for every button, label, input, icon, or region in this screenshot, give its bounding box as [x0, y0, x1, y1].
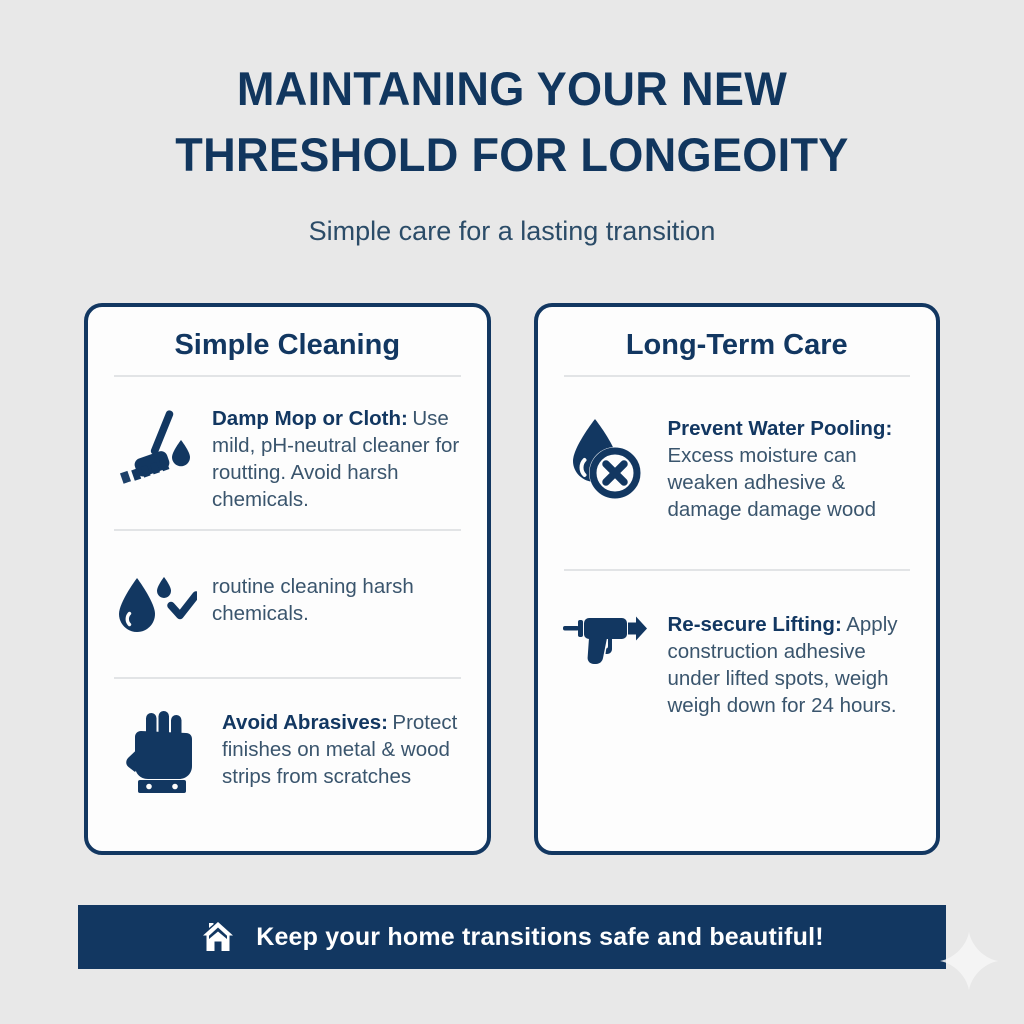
header: MAINTANING YOUR NEW THRESHOLD FOR LONGEO…	[0, 0, 1024, 248]
card-simple-cleaning: Simple Cleaning	[84, 303, 491, 855]
card-items: Prevent Water Pooling: Excess moisture c…	[562, 377, 913, 837]
cards-container: Simple Cleaning	[84, 303, 940, 855]
list-item-text: routine cleaning harsh chemicals.	[212, 571, 463, 627]
list-item-text: Avoid Abrasives: Protect finishes on met…	[222, 707, 463, 790]
card-long-term-care: Long-Term Care	[534, 303, 941, 855]
card-title: Simple Cleaning	[112, 325, 463, 375]
page-title-line-1: MAINTANING YOUR NEW	[20, 56, 1003, 122]
card-items: Damp Mop or Cloth: Use mild, pH-neutral …	[112, 377, 463, 837]
card-spacer	[562, 735, 913, 837]
list-item-heading: Avoid Abrasives:	[222, 711, 388, 734]
list-item-re-secure-lifting: Re-secure Lifting: Apply construction ad…	[562, 571, 913, 735]
list-item-body: routine cleaning harsh chemicals.	[212, 575, 414, 625]
list-item-heading: Re-secure Lifting:	[668, 613, 842, 636]
card-title: Long-Term Care	[562, 325, 913, 375]
list-item-damp-mop: Damp Mop or Cloth: Use mild, pH-neutral …	[112, 377, 463, 529]
page-subtitle: Simple care for a lasting transition	[0, 214, 1024, 248]
list-item-text: Re-secure Lifting: Apply construction ad…	[662, 609, 913, 719]
card-spacer	[112, 809, 463, 837]
footer-text: Keep your home transitions safe and beau…	[256, 921, 824, 953]
footer-banner: Keep your home transitions safe and beau…	[78, 905, 946, 969]
list-item-avoid-abrasives: Avoid Abrasives: Protect finishes on met…	[112, 679, 463, 809]
list-item-body: Excess moisture can weaken adhesive & da…	[668, 444, 877, 521]
list-item-routine-cleaning: routine cleaning harsh chemicals.	[112, 531, 463, 677]
list-item-heading: Damp Mop or Cloth:	[212, 407, 408, 430]
page-title: MAINTANING YOUR NEW THRESHOLD FOR LONGEO…	[20, 56, 1003, 188]
mop-with-droplet-icon	[112, 403, 198, 485]
droplet-check-icon	[112, 571, 198, 635]
sparkle-icon	[938, 930, 1000, 992]
hand-stop-icon	[112, 707, 208, 793]
list-item-text: Damp Mop or Cloth: Use mild, pH-neutral …	[212, 403, 463, 513]
caulk-gun-icon	[562, 609, 648, 669]
list-item-heading: Prevent Water Pooling:	[668, 417, 893, 440]
page-title-line-2: THRESHOLD FOR LONGEOITY	[20, 122, 1003, 188]
list-item-text: Prevent Water Pooling: Excess moisture c…	[662, 413, 913, 523]
home-icon	[200, 919, 236, 955]
droplet-no-water-icon	[562, 413, 648, 499]
list-item-prevent-water-pooling: Prevent Water Pooling: Excess moisture c…	[562, 377, 913, 569]
